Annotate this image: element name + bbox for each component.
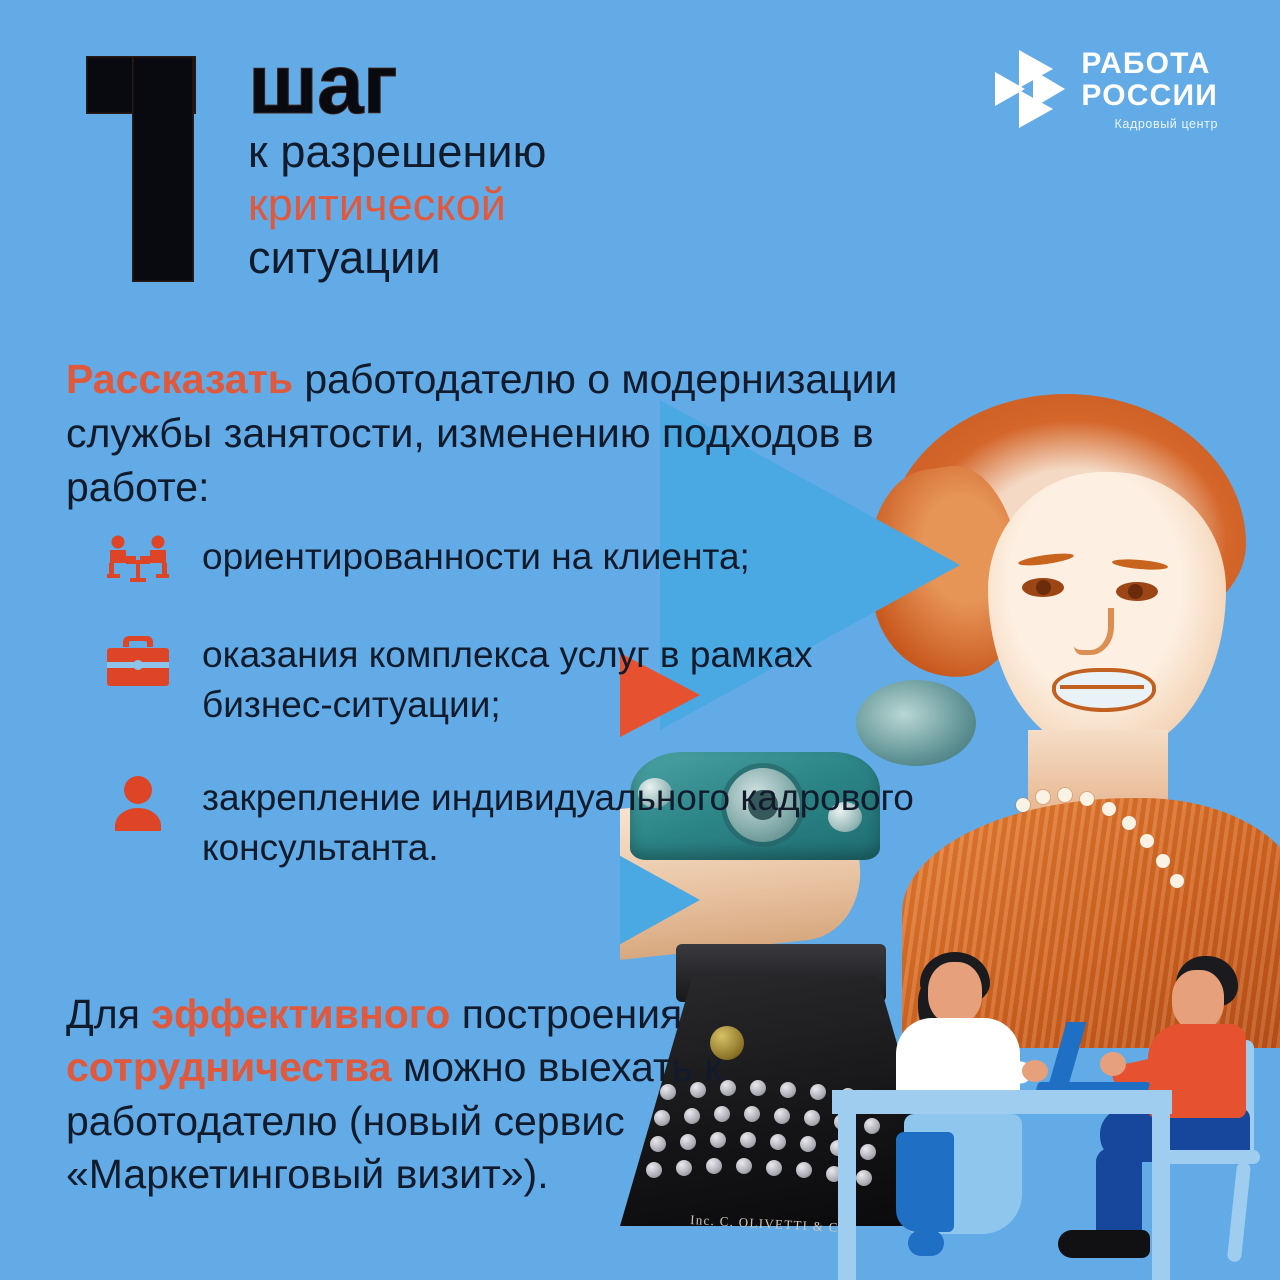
outro-paragraph: Для эффективного построения сотрудничест… xyxy=(66,988,766,1201)
list-item: ориентированности на клиента; xyxy=(100,530,920,586)
person-right-chair-leg xyxy=(1227,1162,1251,1263)
brand-logo-text: РАБОТА РОССИИ Кадровый центр xyxy=(1081,48,1218,130)
outro-accent2: сотрудничества xyxy=(66,1044,392,1090)
headline-word-shag: шаг xyxy=(248,50,1008,119)
headline-line-1: к разрешению xyxy=(248,125,1008,178)
woman-smile xyxy=(1052,668,1156,712)
desk-leg-right xyxy=(1152,1114,1170,1280)
bullet-text: оказания комплекса услуг в рамках бизнес… xyxy=(202,628,920,729)
person-right-head xyxy=(1172,970,1224,1030)
list-item: закрепление индивидуального кадрового ко… xyxy=(100,771,920,872)
person-icon xyxy=(100,771,176,833)
bullet-text: ориентированности на клиента; xyxy=(202,530,750,582)
desk-leg-left xyxy=(838,1114,856,1280)
bullet-list: ориентированности на клиента; оказания к… xyxy=(100,530,920,914)
person-right-hand xyxy=(1100,1052,1126,1076)
person-left-chair xyxy=(896,1132,954,1232)
list-item: оказания комплекса услуг в рамках бизнес… xyxy=(100,628,920,729)
woman-pearl-necklace xyxy=(1010,788,1230,898)
woman-pupil-left xyxy=(1036,580,1051,595)
poster-header: шаг к разрешению критической ситуации РА… xyxy=(0,0,1280,300)
headline-line-2-accent: критической xyxy=(248,178,1008,231)
intro-accent-word: Рассказать xyxy=(66,356,293,402)
person-left-hand xyxy=(1022,1060,1048,1082)
desk-meeting-illustration xyxy=(800,900,1280,1280)
brand-title-line2: РОССИИ xyxy=(1081,80,1218,112)
outro-part2: построения xyxy=(450,991,682,1037)
step-number-numeral xyxy=(86,56,208,282)
woman-pupil-right xyxy=(1128,584,1143,599)
headline-line-3: ситуации xyxy=(248,231,1008,284)
desk-top xyxy=(832,1090,1172,1114)
intro-paragraph: Рассказать работодателю о модернизации с… xyxy=(66,352,966,514)
bullet-text: закрепление индивидуального кадрового ко… xyxy=(202,771,920,872)
numeral-stem xyxy=(132,56,194,282)
person-left-foot xyxy=(908,1230,944,1256)
headline-block: шаг к разрешению критической ситуации xyxy=(248,50,1008,284)
person-left-head xyxy=(928,962,982,1024)
brand-logo[interactable]: РАБОТА РОССИИ Кадровый центр xyxy=(993,48,1218,130)
meeting-table-icon xyxy=(100,530,176,586)
brand-title-line1: РАБОТА xyxy=(1081,48,1218,80)
outro-accent1: эффективного xyxy=(151,991,450,1037)
poster-canvas: Inc. C. OLIVETTI & C. xyxy=(0,0,1280,1280)
person-right-shoe xyxy=(1058,1230,1150,1258)
brand-subtitle: Кадровый центр xyxy=(1081,118,1218,131)
briefcase-icon xyxy=(100,628,176,690)
outro-part1: Для xyxy=(66,991,151,1037)
pinwheel-triangles-icon xyxy=(993,48,1067,130)
